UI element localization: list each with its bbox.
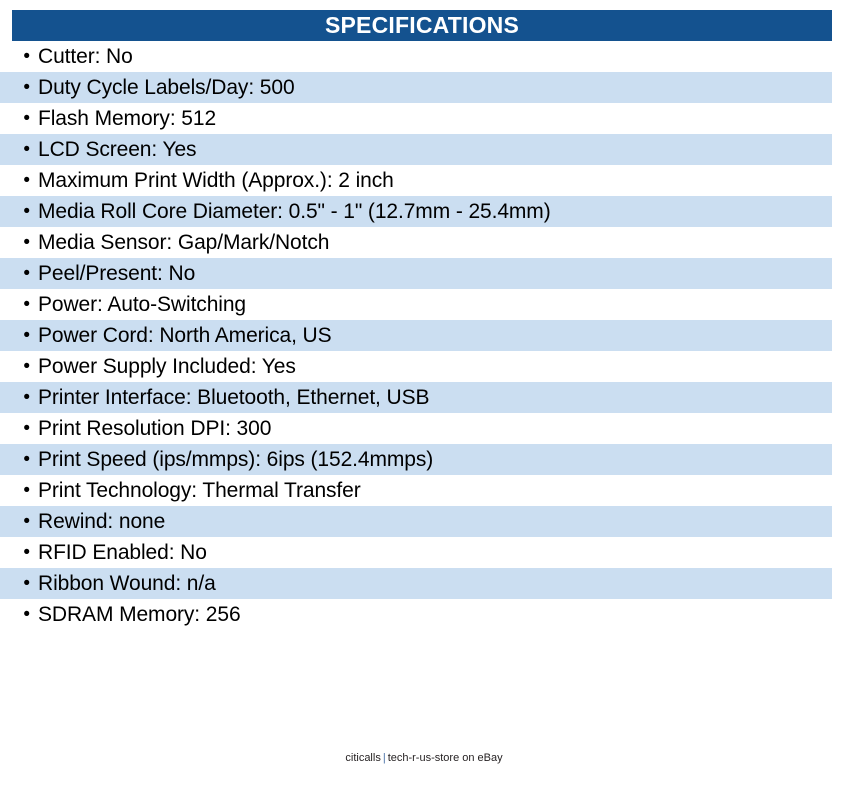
spec-row-label: Cutter: No — [38, 46, 133, 67]
bullet-icon: • — [0, 326, 38, 345]
spec-row: •Media Sensor: Gap/Mark/Notch — [0, 227, 832, 258]
bullet-icon: • — [0, 78, 38, 97]
spec-row-label: Power Supply Included: Yes — [38, 356, 296, 377]
spec-row: •Power Supply Included: Yes — [0, 351, 832, 382]
spec-row-label: Power: Auto-Switching — [38, 294, 246, 315]
spec-row: •Power: Auto-Switching — [0, 289, 832, 320]
spec-row: •RFID Enabled: No — [0, 537, 832, 568]
bullet-icon: • — [0, 233, 38, 252]
spec-row-label: Printer Interface: Bluetooth, Ethernet, … — [38, 387, 429, 408]
specifications-list: •Cutter: No•Duty Cycle Labels/Day: 500•F… — [0, 41, 832, 630]
spec-row: •Ribbon Wound: n/a — [0, 568, 832, 599]
spec-row: •Maximum Print Width (Approx.): 2 inch — [0, 165, 832, 196]
spec-row: •Printer Interface: Bluetooth, Ethernet,… — [0, 382, 832, 413]
bullet-icon: • — [0, 605, 38, 624]
bullet-icon: • — [0, 202, 38, 221]
specifications-sheet: SPECIFICATIONS •Cutter: No•Duty Cycle La… — [0, 0, 848, 785]
spec-row-label: Maximum Print Width (Approx.): 2 inch — [38, 170, 394, 191]
bullet-icon: • — [0, 450, 38, 469]
spec-row-label: Print Resolution DPI: 300 — [38, 418, 271, 439]
spec-row: •Flash Memory: 512 — [0, 103, 832, 134]
bullet-icon: • — [0, 109, 38, 128]
bullet-icon: • — [0, 171, 38, 190]
footer-separator: | — [381, 752, 388, 764]
footer-seller: citicalls — [345, 752, 380, 764]
spec-row: •Print Speed (ips/mmps): 6ips (152.4mmps… — [0, 444, 832, 475]
spec-row-label: Power Cord: North America, US — [38, 325, 332, 346]
spec-row: •Print Technology: Thermal Transfer — [0, 475, 832, 506]
bullet-icon: • — [0, 140, 38, 159]
bullet-icon: • — [0, 295, 38, 314]
footer-attribution: citicalls|tech-r-us-store on eBay — [0, 753, 848, 764]
page-title: SPECIFICATIONS — [12, 10, 832, 41]
spec-row: •Print Resolution DPI: 300 — [0, 413, 832, 444]
spec-row: •Power Cord: North America, US — [0, 320, 832, 351]
bullet-icon: • — [0, 574, 38, 593]
bullet-icon: • — [0, 47, 38, 66]
spec-row-label: Media Roll Core Diameter: 0.5" - 1" (12.… — [38, 201, 551, 222]
spec-row-label: Print Speed (ips/mmps): 6ips (152.4mmps) — [38, 449, 433, 470]
bullet-icon: • — [0, 481, 38, 500]
spec-row: •LCD Screen: Yes — [0, 134, 832, 165]
bullet-icon: • — [0, 357, 38, 376]
spec-row-label: Print Technology: Thermal Transfer — [38, 480, 361, 501]
footer-store: tech-r-us-store on eBay — [388, 752, 503, 764]
spec-row: •SDRAM Memory: 256 — [0, 599, 832, 630]
spec-row: •Rewind: none — [0, 506, 832, 537]
spec-row-label: Ribbon Wound: n/a — [38, 573, 216, 594]
spec-row: •Cutter: No — [0, 41, 832, 72]
spec-row: •Duty Cycle Labels/Day: 500 — [0, 72, 832, 103]
spec-row: •Media Roll Core Diameter: 0.5" - 1" (12… — [0, 196, 832, 227]
spec-row-label: Peel/Present: No — [38, 263, 195, 284]
bullet-icon: • — [0, 388, 38, 407]
spec-row-label: Duty Cycle Labels/Day: 500 — [38, 77, 295, 98]
spec-row: •Peel/Present: No — [0, 258, 832, 289]
spec-row-label: Media Sensor: Gap/Mark/Notch — [38, 232, 329, 253]
spec-row-label: Flash Memory: 512 — [38, 108, 216, 129]
bullet-icon: • — [0, 543, 38, 562]
bullet-icon: • — [0, 264, 38, 283]
spec-row-label: Rewind: none — [38, 511, 165, 532]
spec-row-label: SDRAM Memory: 256 — [38, 604, 241, 625]
bullet-icon: • — [0, 419, 38, 438]
spec-row-label: LCD Screen: Yes — [38, 139, 196, 160]
spec-row-label: RFID Enabled: No — [38, 542, 207, 563]
bullet-icon: • — [0, 512, 38, 531]
